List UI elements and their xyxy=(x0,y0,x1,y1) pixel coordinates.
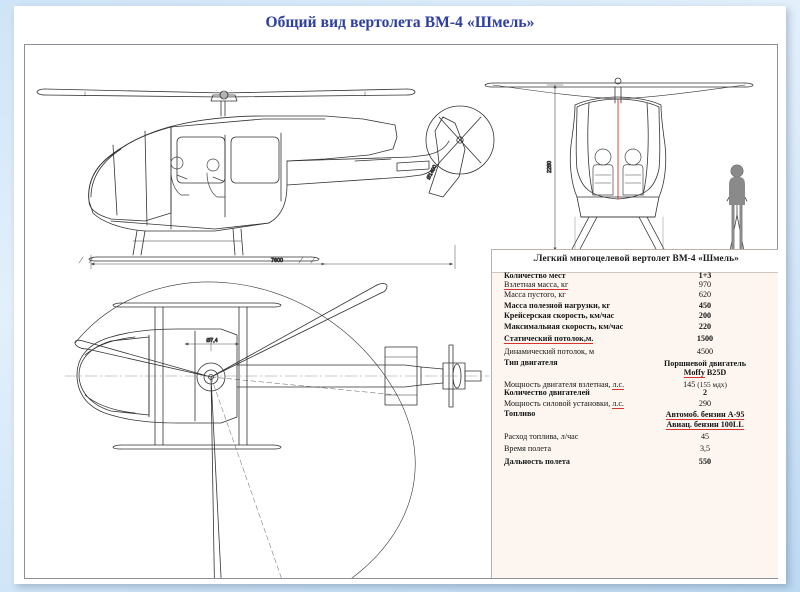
spec-label: Топливо xyxy=(504,410,654,419)
dimension-label-length: 7600 xyxy=(271,258,283,264)
spec-value: 1500 xyxy=(654,335,770,344)
table-row: Статический потолок,м. 1500 xyxy=(492,335,778,344)
spec-value: 450 xyxy=(654,302,770,311)
spec-rows: Количество мест 1+3 Взлетная масса, кг 9… xyxy=(492,272,778,466)
spec-label: Динамический потолок, м xyxy=(504,348,654,357)
spec-label: Крейсерская скорость, км/час xyxy=(504,312,654,321)
table-row: Динамический потолок, м 4500 xyxy=(492,348,778,357)
spec-value: Поршневой двигатель Moffy B25D xyxy=(654,359,770,377)
table-row: Масса пустого, кг 620 xyxy=(492,291,778,300)
spec-label: Статический потолок,м. xyxy=(504,335,654,344)
table-row: Взлетная масса, кг 970 xyxy=(492,281,778,290)
spec-label: Взлетная масса, кг xyxy=(504,281,654,290)
spec-label: Расход топлива, л/час xyxy=(504,433,654,442)
spec-label: Количество двигателей xyxy=(504,389,654,398)
spec-value: 2 xyxy=(654,389,770,398)
fuel-value-line2: Авиац. бензин 100LL xyxy=(666,420,743,430)
spec-table-header: .Легкий многоцелевой вертолет ВМ-4 «Шмел… xyxy=(492,250,778,273)
slide-title-text: Общий вид вертолета ВМ-4 «Шмель» xyxy=(265,14,534,31)
table-row: Масса полезной нагрузки, кг 450 xyxy=(492,302,778,311)
engine-value-line1: Поршневой двигатель xyxy=(664,359,746,368)
spec-value: 1+3 xyxy=(654,272,770,281)
table-row: Расход топлива, л/час 45 xyxy=(492,433,778,442)
spec-value: 620 xyxy=(654,291,770,300)
drawing-frame: 7600 Ø1400 xyxy=(24,44,778,579)
spec-value: 4500 xyxy=(654,348,770,357)
spec-value: Автомоб. бензин А-95 Авиац. бензин 100LL xyxy=(654,410,770,428)
side-view-helicopter: 7600 Ø1400 xyxy=(37,89,494,269)
table-row: Максимальная скорость, км/час 220 xyxy=(492,323,778,332)
spec-value: 45 xyxy=(654,433,770,442)
spec-value: 145 (155 мдх) xyxy=(654,381,770,390)
dimension-label-tail-rotor: Ø1400 xyxy=(426,164,439,181)
spec-value: 220 xyxy=(654,323,770,332)
spec-label: Масса пустого, кг xyxy=(504,291,654,300)
front-view-helicopter: 2280 1300 2000 xyxy=(485,78,753,277)
spec-value: 550 xyxy=(654,458,770,467)
spec-label: Тип двигателя xyxy=(504,359,654,368)
spec-label: Максимальная скорость, км/час xyxy=(504,323,654,332)
table-row-fuel: Топливо Автомоб. бензин А-95 Авиац. бенз… xyxy=(492,410,778,428)
spec-label: Мощность силовой установки, л.с. xyxy=(504,400,654,409)
table-row-engine-type: Тип двигателя Поршневой двигатель Moffy … xyxy=(492,359,778,377)
dimension-label-rotor-diameter: Ø7,4 xyxy=(206,338,217,344)
table-row: Количество двигателей 2 xyxy=(492,389,778,398)
top-view-helicopter: Ø7,4 xyxy=(65,282,489,578)
slide-panel: Общий вид вертолета ВМ-4 «Шмель» xyxy=(14,6,786,584)
dimension-label-height: 2280 xyxy=(547,161,553,173)
table-row: Время полета 3,5 xyxy=(492,445,778,454)
slide-content: Общий вид вертолета ВМ-4 «Шмель» xyxy=(14,6,786,584)
spec-label: Масса полезной нагрузки, кг xyxy=(504,302,654,311)
specifications-table: .Легкий многоцелевой вертолет ВМ-4 «Шмел… xyxy=(491,249,778,578)
spec-value-note: (155 мдх) xyxy=(697,380,727,389)
spec-value: 200 xyxy=(654,312,770,321)
engine-value-line2-rest: B25D xyxy=(705,368,726,377)
fuel-value-line1: Автомоб. бензин А-95 xyxy=(666,410,745,420)
page-title: Общий вид вертолета ВМ-4 «Шмель» xyxy=(14,14,786,40)
table-row: Дальность полета 550 xyxy=(492,458,778,467)
spec-label: Время полета xyxy=(504,445,654,454)
spec-value: 970 xyxy=(654,281,770,290)
spec-value: 3,5 xyxy=(654,445,770,454)
spec-table-title: .Легкий многоцелевой вертолет ВМ-4 «Шмел… xyxy=(500,254,772,264)
engine-value-line2-marked: Moffy xyxy=(684,368,705,378)
spec-label: Дальность полета xyxy=(504,458,654,467)
spec-value: 290 xyxy=(654,400,770,409)
table-row: Мощность силовой установки, л.с. 290 xyxy=(492,400,778,409)
table-row: Крейсерская скорость, км/час 200 xyxy=(492,312,778,321)
